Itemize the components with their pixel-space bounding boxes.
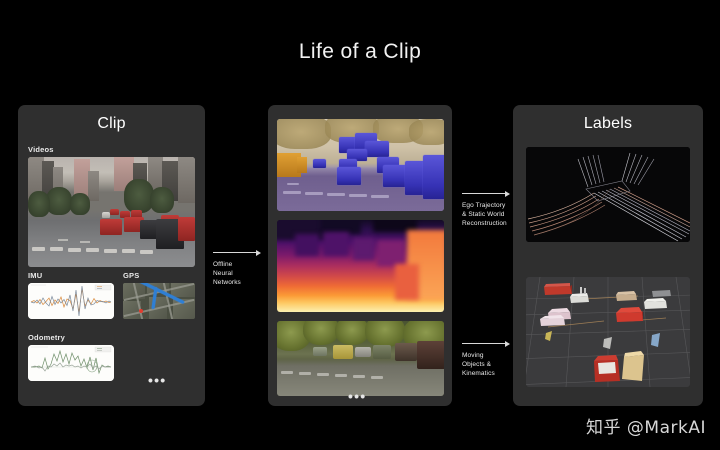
moving-objects-3d-scene[interactable]: [526, 277, 690, 387]
lane-lines-svg: [526, 147, 690, 242]
arrow-line: [462, 343, 505, 344]
watermark: 知乎 @MarkAI: [586, 413, 706, 438]
arrow-line: [213, 252, 256, 253]
object-box-tan-car: [616, 291, 637, 301]
slide-root: Life of a Clip Clip Videos: [0, 0, 720, 450]
object-box-white-car-2: [644, 298, 667, 309]
segmentation-canvas: [277, 119, 444, 211]
arrow-label-ego-trajectory: Ego Trajectory & Static World Reconstruc…: [462, 201, 507, 228]
gps-satellite-imagery: [123, 283, 195, 319]
object-box-white-car-1: [570, 293, 589, 303]
section-label-gps: GPS: [123, 271, 139, 280]
panel-neural-network-outputs: •••: [268, 105, 452, 406]
lane-trajectory-reconstruction[interactable]: [526, 147, 690, 242]
section-label-imu: IMU: [28, 271, 42, 280]
arrow-head-icon: [505, 341, 510, 347]
arrow-label-offline-neural-networks: Offline Neural Networks: [213, 260, 241, 287]
imu-chart[interactable]: [28, 283, 114, 319]
depth-map-image[interactable]: [277, 220, 444, 312]
arrow-head-icon: [256, 250, 261, 256]
object-box-grey-car: [652, 290, 671, 297]
video-thumbnail[interactable]: [28, 157, 195, 267]
semantic-segmentation-image[interactable]: [277, 119, 444, 211]
lane-reconstruction-canvas: [526, 147, 690, 242]
objects-scene-canvas: [526, 277, 690, 387]
city-street-scene: [28, 157, 195, 267]
section-label-videos: Videos: [28, 145, 54, 154]
panel-clip-title: Clip: [18, 115, 205, 133]
object-box-red-van: [544, 283, 572, 295]
imu-chart-svg: [28, 283, 114, 319]
odometry-chart-svg: [28, 345, 114, 381]
clip-more-indicator[interactable]: •••: [148, 377, 166, 383]
object-box-tan-truck: [622, 351, 644, 381]
depth-magma-canvas: [277, 220, 444, 312]
object-box-red-car-near: [594, 355, 620, 382]
section-label-odometry: Odometry: [28, 333, 65, 342]
rgb-street-canvas: [277, 321, 444, 396]
networks-more-indicator[interactable]: •••: [348, 393, 366, 399]
page-title: Life of a Clip: [0, 40, 720, 64]
panel-labels: Labels: [513, 105, 703, 406]
panel-labels-title: Labels: [513, 115, 703, 133]
rgb-street-image[interactable]: [277, 321, 444, 396]
arrow-label-moving-objects: Moving Objects & Kinematics: [462, 351, 495, 378]
arrow-line: [462, 193, 505, 194]
objects-scene-svg: [526, 277, 690, 387]
arrow-head-icon: [505, 191, 510, 197]
odometry-chart[interactable]: [28, 345, 114, 381]
gps-map[interactable]: [123, 283, 195, 319]
object-box-red-car-mid: [616, 307, 643, 322]
panel-clip: Clip Videos: [18, 105, 205, 406]
